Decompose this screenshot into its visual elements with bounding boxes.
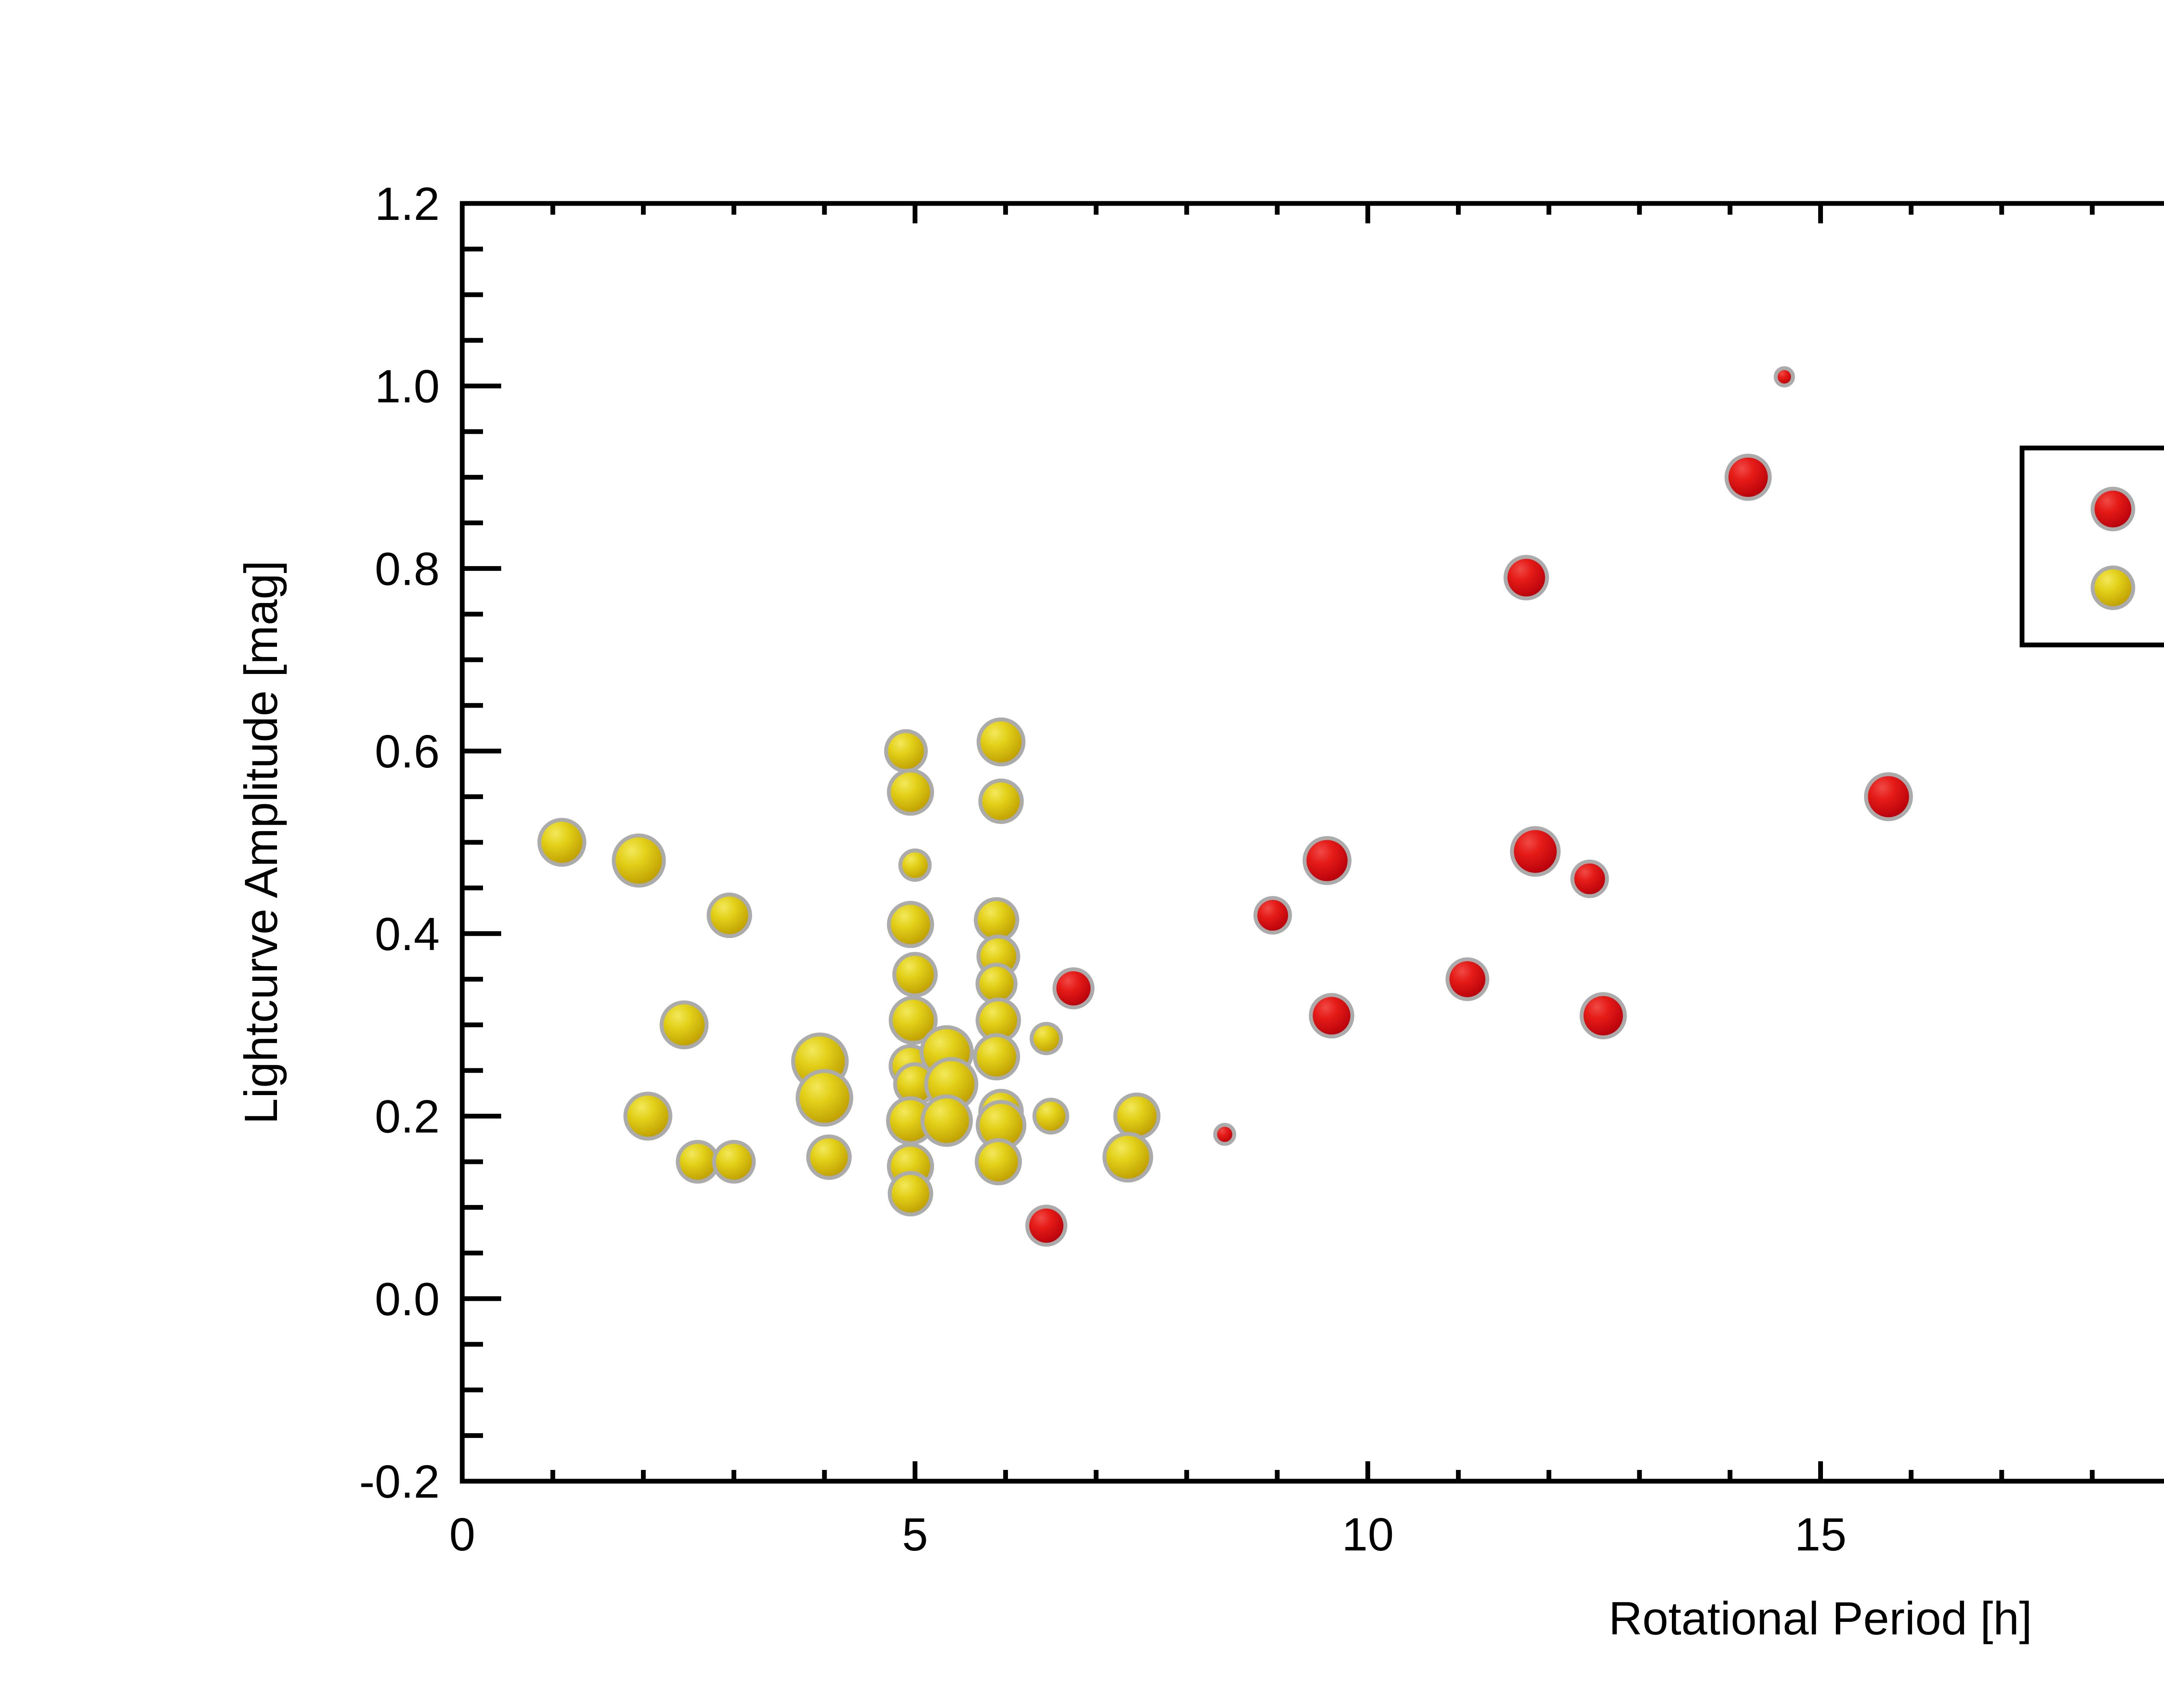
data-point xyxy=(1032,1024,1061,1053)
data-point xyxy=(1115,1095,1159,1138)
data-point xyxy=(976,899,1017,941)
y-tick-label: 1.2 xyxy=(375,177,440,230)
y-tick-label: 0.8 xyxy=(375,542,440,595)
data-point xyxy=(708,895,750,936)
x-axis-title: Rotational Period [h] xyxy=(1609,1592,2032,1644)
data-point xyxy=(1447,959,1487,999)
figure-root: 051015202530-0.20.00.20.40.60.81.01.2 Ro… xyxy=(0,0,2164,1708)
y-tick-label: 0.6 xyxy=(375,725,440,777)
data-point xyxy=(886,731,926,771)
data-point xyxy=(662,1002,707,1047)
data-point xyxy=(1866,774,1911,819)
y-tick-label: 0.2 xyxy=(375,1090,440,1143)
data-point xyxy=(1726,456,1770,499)
data-point xyxy=(1572,861,1607,896)
data-point xyxy=(1034,1100,1067,1133)
x-tick-label: 5 xyxy=(902,1508,928,1560)
data-point xyxy=(614,835,664,886)
y-axis-title: Lightcurve Amplitude [mag] xyxy=(235,561,287,1125)
data-point xyxy=(900,851,930,880)
data-point xyxy=(798,1071,851,1125)
data-point xyxy=(678,1142,718,1182)
scatter-plot-figure: 051015202530-0.20.00.20.40.60.81.01.2 Ro… xyxy=(0,0,2164,1708)
plot-svg: 051015202530-0.20.00.20.40.60.81.01.2 Ro… xyxy=(0,0,2164,1708)
data-point xyxy=(975,1035,1018,1079)
data-point xyxy=(1256,898,1290,933)
legend-marker-red xyxy=(2093,489,2133,529)
data-point xyxy=(977,965,1015,1003)
x-tick-label: 0 xyxy=(449,1508,475,1560)
y-tick-label: 0.0 xyxy=(375,1273,440,1325)
legend-box xyxy=(2022,448,2164,645)
canvas-background xyxy=(0,0,2164,1708)
data-point xyxy=(539,820,584,865)
data-point xyxy=(894,954,936,996)
data-point xyxy=(808,1136,850,1178)
data-point xyxy=(1215,1125,1234,1144)
data-point xyxy=(1027,1207,1066,1245)
data-point xyxy=(1512,828,1559,875)
data-point xyxy=(977,1140,1020,1183)
data-point xyxy=(1581,994,1625,1038)
x-tick-label: 15 xyxy=(1794,1508,1846,1560)
data-point xyxy=(890,1173,931,1215)
data-point xyxy=(979,719,1024,764)
data-point xyxy=(980,780,1022,822)
data-point xyxy=(1505,557,1547,599)
data-point xyxy=(714,1142,754,1182)
data-point xyxy=(1304,838,1349,883)
data-point xyxy=(889,903,932,946)
y-tick-label: -0.2 xyxy=(359,1455,440,1508)
x-tick-label: 10 xyxy=(1342,1508,1394,1560)
legend: Full lightcurves: CCs Partial lightcurve… xyxy=(2022,448,2164,645)
legend-marker-yellow xyxy=(2093,567,2133,608)
data-point xyxy=(1311,995,1352,1037)
data-point xyxy=(1054,969,1092,1007)
data-point xyxy=(1105,1134,1151,1180)
data-point xyxy=(1776,368,1793,386)
data-point xyxy=(922,1096,971,1145)
data-point xyxy=(625,1094,670,1139)
y-tick-label: 0.4 xyxy=(375,908,440,960)
data-point xyxy=(889,770,932,814)
y-tick-label: 1.0 xyxy=(375,360,440,412)
